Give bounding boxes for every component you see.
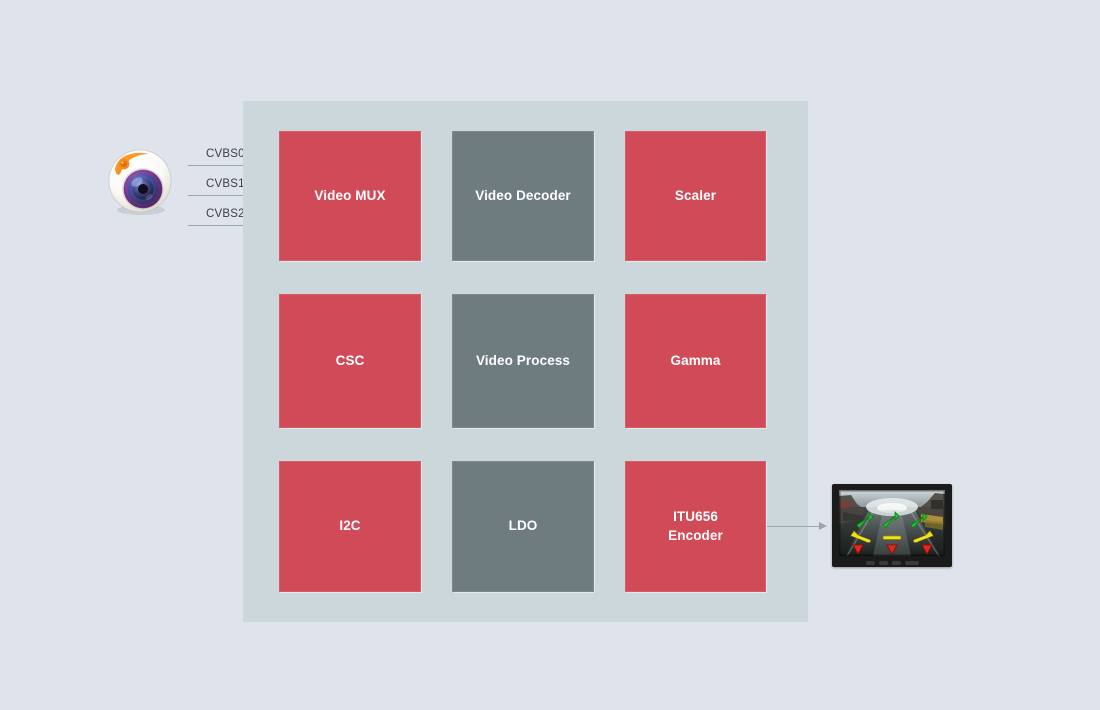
monitor-icon [832,484,952,567]
input-label-cvbs0: CVBS0 [206,148,245,160]
output-arrow [819,522,827,530]
block-gamma[interactable]: Gamma [625,294,766,428]
block-video-decoder[interactable]: Video Decoder [452,131,594,261]
camera-icon-svg [107,147,173,217]
block-itu656-encoder[interactable]: ITU656 Encoder [625,461,766,592]
input-label-cvbs1: CVBS1 [206,178,245,190]
diagram-canvas: CVBS0 CVBS1 CVBS2 Video MUX Video Decode… [0,0,1100,710]
monitor-button-2[interactable] [879,561,888,565]
input-label-cvbs2: CVBS2 [206,208,245,220]
block-video-mux[interactable]: Video MUX [279,131,421,261]
camera-icon [107,147,173,217]
output-line [767,526,821,527]
block-csc[interactable]: CSC [279,294,421,428]
monitor-screen [839,490,945,556]
monitor-button-3[interactable] [892,561,901,565]
block-ldo[interactable]: LDO [452,461,594,592]
block-video-process[interactable]: Video Process [452,294,594,428]
monitor-button-4[interactable] [905,561,919,565]
monitor-screen-image [839,490,945,556]
monitor-button-row [832,557,952,566]
monitor-button-1[interactable] [866,561,875,565]
block-i2c[interactable]: I2C [279,461,421,592]
block-scaler[interactable]: Scaler [625,131,766,261]
